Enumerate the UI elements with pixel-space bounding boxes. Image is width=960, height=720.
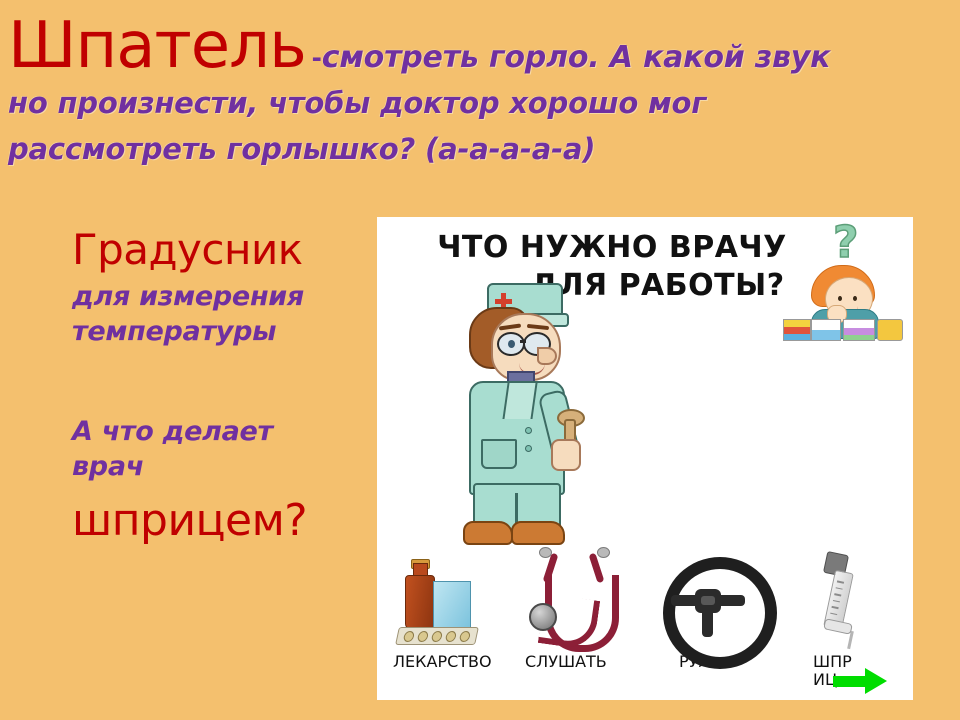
question-highlight-shpritsem: шприцем? (72, 498, 367, 544)
panel-title-line-1: ЧТО НУЖНО ВРАЧУ (437, 230, 787, 265)
question-line-1: А что делает (72, 415, 367, 450)
object-label-medicine: ЛЕКАРСТВО (385, 653, 505, 671)
question-line-2: врач (72, 450, 367, 485)
next-arrow-icon[interactable] (833, 668, 895, 694)
book-3 (843, 319, 875, 341)
thinking-boy-icon: ? (781, 221, 907, 341)
arrow-head (865, 668, 887, 694)
boy-eye-right (853, 296, 857, 301)
headline-line-2: но произнести, чтобы доктор хорошо мог (8, 86, 952, 120)
doctor-pocket (481, 439, 517, 469)
gradusnik-detail-line-1: для измерения (72, 280, 367, 315)
picture-panel: ЧТО НУЖНО ВРАЧУ ДЛЯ РАБОТЫ? ? (377, 217, 913, 700)
doctor-hand (551, 439, 581, 471)
stethoscope-earpiece-right (597, 547, 610, 558)
steering-wheel-hub (695, 589, 721, 613)
headline-line-1: Шпатель-смотреть горло. А какой звук (8, 14, 952, 78)
doctor-shoe-right (511, 521, 565, 545)
headline-line-3: рассмотреть горлышко? (а-а-а-а-а) (8, 132, 952, 166)
question-mark-icon: ? (833, 221, 859, 265)
doctor-illustration (447, 283, 597, 545)
medicine-box (433, 581, 471, 629)
left-text-column: Градусник для измерения температуры А чт… (72, 228, 367, 544)
pill (445, 631, 457, 642)
books-icon (781, 317, 905, 341)
doctor-pupil-left (508, 340, 515, 348)
red-cross-icon-horizontal (495, 299, 512, 304)
book-2 (811, 319, 841, 341)
book-1 (783, 319, 811, 341)
pill (459, 631, 471, 642)
medicine-icon (385, 547, 505, 653)
object-stethoscope[interactable]: СЛУШАТЬ (517, 547, 637, 671)
pill (431, 631, 443, 642)
doctor-glasses-left (497, 332, 525, 356)
gradusnik-detail-line-2: температуры (72, 315, 367, 350)
steering-wheel-spoke-right (717, 595, 745, 606)
term-gradusnik: Градусник (72, 228, 367, 272)
term-shpatel: Шпатель (8, 9, 306, 83)
doctor-brow-left (499, 323, 521, 330)
pill (417, 631, 429, 642)
spacer-b (72, 349, 367, 415)
object-medicine[interactable]: ЛЕКАРСТВО (385, 547, 505, 671)
syringe-flange (823, 618, 853, 635)
steering-wheel-spoke-bottom (702, 609, 713, 637)
stethoscope-icon (517, 547, 637, 653)
doctor-lapel (502, 383, 537, 419)
arrow-shaft (833, 676, 869, 687)
steering-wheel-rim (663, 557, 777, 669)
object-label-stethoscope: СЛУШАТЬ (517, 653, 637, 671)
term-definition: смотреть горло. А какой звук (322, 40, 831, 75)
pill (403, 631, 415, 642)
doctor-shoe-left (463, 521, 513, 545)
stethoscope-bell (529, 603, 557, 631)
object-steering-wheel[interactable]: РУЛЬ (649, 547, 769, 671)
syringe-icon (781, 547, 901, 653)
headline-dash: - (306, 41, 322, 74)
book-4 (877, 319, 903, 341)
slide-root: Шпатель-смотреть горло. А какой звук но … (0, 0, 960, 720)
medicine-bottle (405, 575, 435, 629)
doctor-button-1 (525, 427, 532, 434)
doctor-brow-right (527, 324, 549, 330)
pill-blister-pack (395, 627, 479, 645)
doctor-glasses-bridge (520, 340, 526, 343)
headline-block: Шпатель-смотреть горло. А какой звук но … (8, 14, 952, 166)
doctor-button-2 (525, 445, 532, 452)
boy-eye-left (838, 296, 842, 301)
steering-wheel-icon (649, 547, 769, 653)
